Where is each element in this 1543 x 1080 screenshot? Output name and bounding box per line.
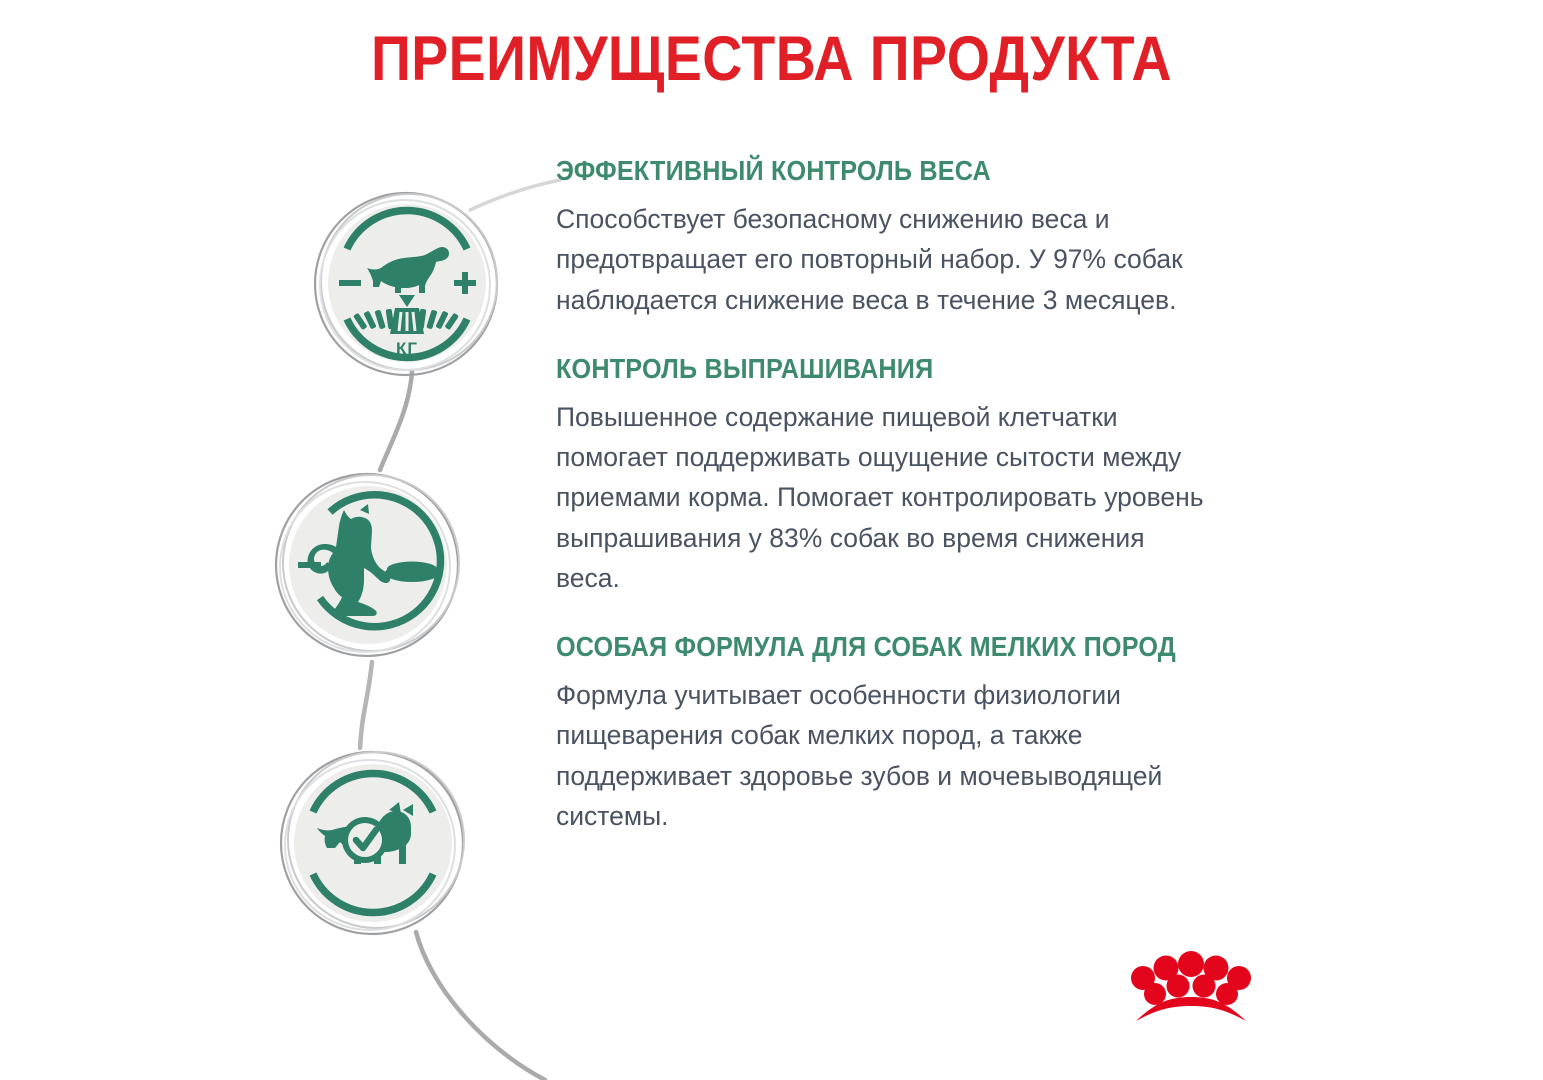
benefit-heading-weight-control: ЭФФЕКТИВНЫЙ КОНТРОЛЬ ВЕСА: [556, 155, 1150, 187]
benefit-body-small-breed: Формула учитывает особенности физиологии…: [556, 675, 1211, 836]
benefit-body-weight-control: Способствует безопасному снижению веса и…: [556, 199, 1211, 320]
page-title: ПРЕИМУЩЕСТВА ПРОДУКТА: [93, 26, 1451, 92]
product-benefits-page: ПРЕИМУЩЕСТВА ПРОДУКТА: [0, 0, 1543, 1080]
royal-canin-crown-logo: [1124, 950, 1258, 1032]
benefit-icon-begging-control: [272, 470, 462, 660]
benefit-icon-weight-control: КГ: [311, 189, 501, 379]
benefit-heading-small-breed: ОСОБАЯ ФОРМУЛА ДЛЯ СОБАК МЕЛКИХ ПОРОД: [556, 631, 1150, 663]
benefit-item-weight-control: ЭФФЕКТИВНЫЙ КОНТРОЛЬ ВЕСА Способствует б…: [556, 155, 1216, 320]
benefits-list: ЭФФЕКТИВНЫЙ КОНТРОЛЬ ВЕСА Способствует б…: [556, 155, 1216, 869]
benefit-body-begging-control: Повышенное содержание пищевой клетчатки …: [556, 397, 1211, 598]
benefit-icon-small-breed: [277, 748, 467, 938]
benefit-item-begging-control: КОНТРОЛЬ ВЫПРАШИВАНИЯ Повышенное содержа…: [556, 353, 1216, 598]
benefit-item-small-breed: ОСОБАЯ ФОРМУЛА ДЛЯ СОБАК МЕЛКИХ ПОРОД Фо…: [556, 631, 1216, 836]
benefit-heading-begging-control: КОНТРОЛЬ ВЫПРАШИВАНИЯ: [556, 353, 1150, 385]
weight-unit-label: КГ: [396, 339, 418, 358]
